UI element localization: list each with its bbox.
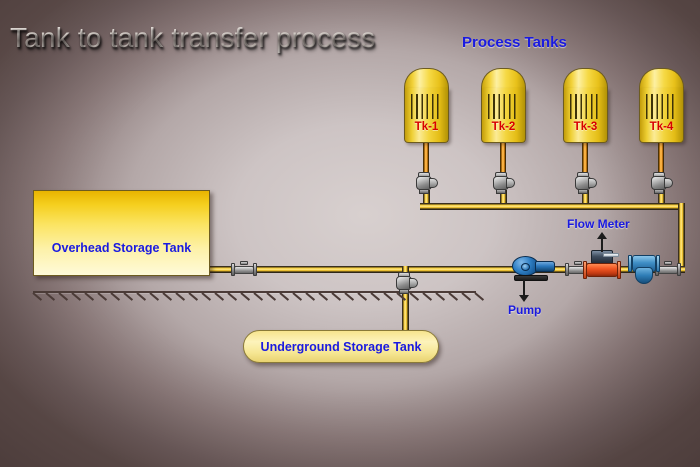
ground-hatch-tick [84,292,94,301]
centrifugal-pump[interactable] [512,255,558,281]
pump-discharge-nozzle [535,261,555,272]
ground-hatch-tick [383,292,393,301]
ground-hatch-tick [123,292,133,301]
flow-meter-flange-right [617,261,621,279]
tank-level-gauge-icon [570,94,601,119]
valve-tk-2-outlet[interactable] [491,172,515,194]
valve-flange [654,189,664,194]
process-tank-tk-1[interactable]: Tk-1 [404,68,449,143]
underground-storage-tank[interactable]: Underground Storage Tank [243,330,439,363]
ground-hatch-tick [448,292,458,301]
valve-overhead-tank-outlet[interactable] [231,263,257,276]
ground-hatch-tick [357,292,367,301]
ground-hatch-tick [214,292,224,301]
ground-hatch-tick [240,292,250,301]
tank-header-pipe [420,203,685,210]
strainer-bowl [635,267,653,284]
strainer-filter[interactable] [628,255,660,285]
tank-label: Tk-3 [563,121,608,133]
ground-hatch-tick [370,292,380,301]
ground-hatch-tick [45,292,55,301]
ground-hatch-tick [136,292,146,301]
flow-meter[interactable] [583,250,621,280]
ground-hatch-tick [58,292,68,301]
tank-label: Tk-2 [481,121,526,133]
strainer-flange-right [656,255,660,272]
ground-hatch-tick [422,292,432,301]
valve-handle[interactable] [664,178,673,188]
tank-dome [481,68,526,90]
valve-flange [419,189,429,194]
ground-hatch-tick [292,292,302,301]
overhead-storage-tank-label: Overhead Storage Tank [34,241,209,255]
valve-handle[interactable] [506,178,515,188]
flow-meter-screen [603,253,619,257]
pump-pointer-arrow-icon [518,280,530,302]
process-tank-tk-4[interactable]: Tk-4 [639,68,684,143]
overhead-storage-tank[interactable]: Overhead Storage Tank [33,190,210,276]
ground-hatch-tick [344,292,354,301]
valve-tk-3-outlet[interactable] [573,172,597,194]
valve-flange-right [253,263,257,276]
ground-hatch-tick [331,292,341,301]
tank-dome [563,68,608,90]
ground-hatch-tick [110,292,120,301]
ground-hatch-tick [227,292,237,301]
valve-flange [578,189,588,194]
tank-level-gauge-icon [411,94,442,119]
valve-handle[interactable] [429,178,438,188]
ground-hatch-tick [188,292,198,301]
tank-level-gauge-icon [488,94,519,119]
valve-handle[interactable] [588,178,597,188]
tank-outlet-pipe-tk-1 [423,142,429,174]
process-tank-tk-2[interactable]: Tk-2 [481,68,526,143]
ground-hatch-tick [149,292,159,301]
tank-dome [404,68,449,90]
pump-label: Pump [508,303,541,317]
tank-outlet-pipe-tk-4 [658,142,664,174]
tank-label: Tk-4 [639,121,684,133]
tank-outlet-pipe-tk-3 [582,142,588,174]
valve-tk-1-outlet[interactable] [414,172,438,194]
ground-hatch-tick [175,292,185,301]
valve-flange-right [677,263,681,276]
valve-underground-tank[interactable] [394,272,418,294]
process-tank-tk-3[interactable]: Tk-3 [563,68,608,143]
valve-body [658,266,678,274]
ground-hatch-tick [162,292,172,301]
ground-hatch-tick [266,292,276,301]
pump-suction-eye [521,263,530,271]
valve-handle[interactable] [409,278,418,288]
tank-outlet-pipe-tk-2 [500,142,506,174]
valve-tk-4-outlet[interactable] [649,172,673,194]
flow-meter-pointer-arrow-icon [596,232,608,252]
ground-hatch-tick [474,292,484,301]
right-riser-pipe [678,203,685,272]
process-diagram-canvas: Tank to tank transfer process Process Ta… [0,0,700,467]
valve-flange [496,189,506,194]
flow-meter-display [591,250,613,264]
ground-hatch-tick [461,292,471,301]
flow-meter-label: Flow Meter [567,217,630,231]
valve-stem [240,261,248,265]
tank-level-gauge-icon [646,94,677,119]
valve-stem [664,261,672,265]
ground-hatch-tick [253,292,263,301]
valve-body [234,266,254,274]
ground-hatch-tick [97,292,107,301]
ground-hatch-tick [279,292,289,301]
tank-label: Tk-1 [404,121,449,133]
ground-hatch-tick [318,292,328,301]
valve-stem [574,261,582,265]
ground-hatch-tick [435,292,445,301]
process-tanks-label: Process Tanks [462,34,567,51]
ground-hatch-tick [305,292,315,301]
ground-hatch-tick [32,292,42,301]
underground-storage-tank-label: Underground Storage Tank [244,340,438,354]
tank-dome [639,68,684,90]
ground-hatch-tick [71,292,81,301]
ground-hatch-tick [201,292,211,301]
page-title: Tank to tank transfer process [10,22,375,54]
flow-meter-body [586,263,618,277]
valve-flange [399,289,409,294]
